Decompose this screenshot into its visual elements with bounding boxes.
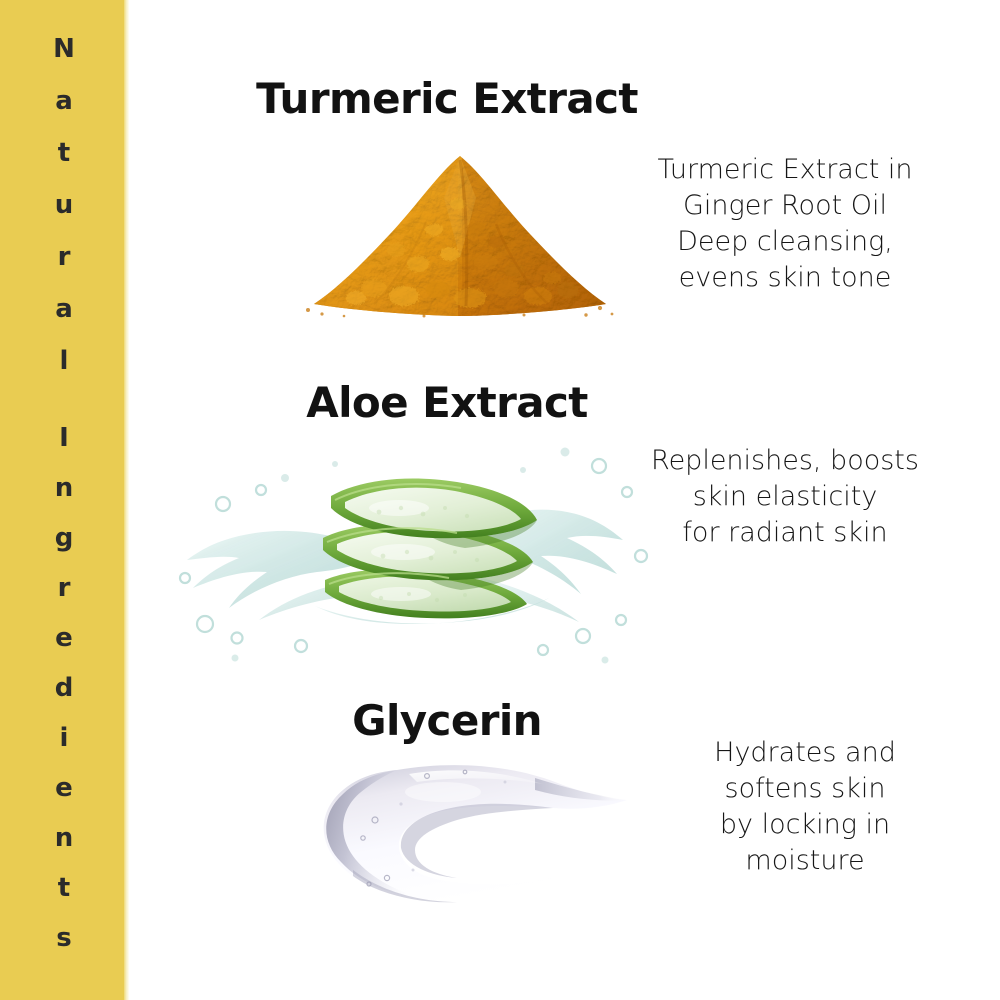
section-description-turmeric: Turmeric Extract in Ginger Root Oil Deep…	[625, 152, 945, 296]
glycerin-gel-image	[305, 752, 635, 912]
vertical-letter: e	[0, 775, 128, 801]
turmeric-powder-image	[300, 138, 620, 318]
vertical-letter: t	[0, 875, 128, 901]
vertical-letter: u	[0, 192, 128, 218]
aloe-slices	[323, 478, 537, 618]
vertical-letter: t	[0, 140, 128, 166]
section-description-glycerin: Hydrates and softens skin by locking in …	[645, 735, 965, 879]
vertical-letter: r	[0, 244, 128, 270]
vertical-letter: i	[0, 725, 128, 751]
vertical-label-ingredients: I n g r e d i e n t s	[0, 425, 128, 975]
vertical-letter: a	[0, 88, 128, 114]
vertical-letter: r	[0, 575, 128, 601]
vertical-letter: l	[0, 348, 128, 374]
section-heading-turmeric: Turmeric Extract	[256, 74, 638, 123]
vertical-letter: g	[0, 525, 128, 551]
vertical-letter: e	[0, 625, 128, 651]
vertical-letter: n	[0, 475, 128, 501]
vertical-letter: a	[0, 296, 128, 322]
vertical-letter: N	[0, 36, 128, 62]
vertical-letter: I	[0, 425, 128, 451]
ingredients-infographic: N a t u r a l I n g r e d i e n t s Turm…	[0, 0, 1000, 1000]
vertical-letter: d	[0, 675, 128, 701]
section-description-aloe: Replenishes, boosts skin elasticity for …	[625, 443, 945, 551]
section-heading-glycerin: Glycerin	[352, 696, 542, 745]
vertical-letter: s	[0, 925, 128, 951]
vertical-label-natural: N a t u r a l	[0, 36, 128, 400]
aloe-vera-image	[175, 408, 655, 668]
vertical-letter: n	[0, 825, 128, 851]
